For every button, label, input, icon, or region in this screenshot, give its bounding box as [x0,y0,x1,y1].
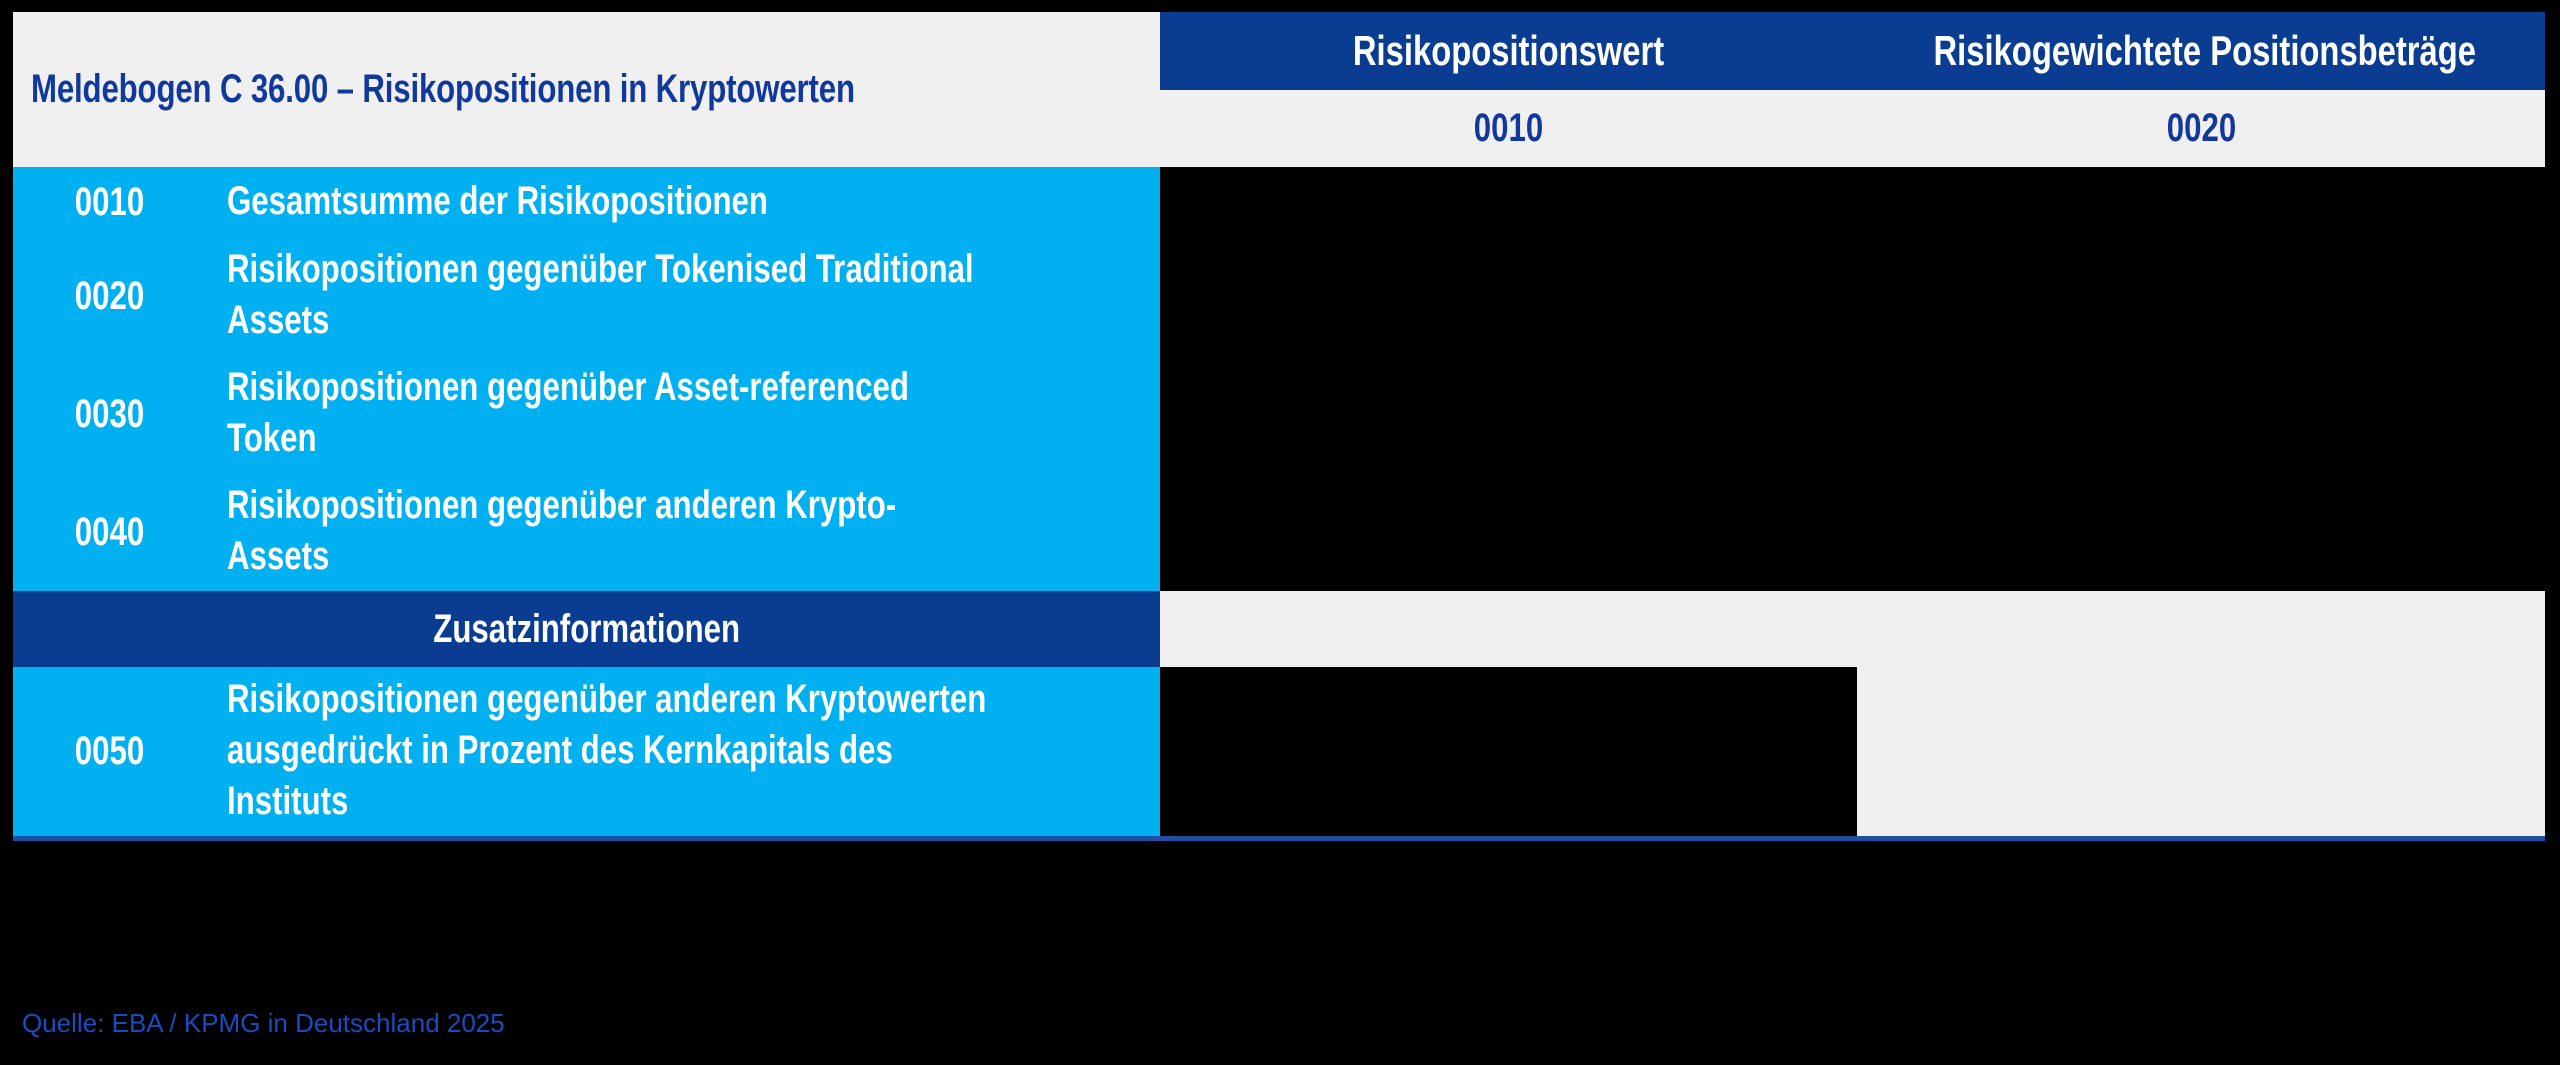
row-label-0050: Risikopositionen gegenüber anderen Krypt… [205,667,1160,841]
column-code-label: 0010 [1474,106,1543,151]
table-title: Meldebogen C 36.00 – Risikopositionen in… [31,67,855,112]
row-code-label: 0020 [74,274,143,319]
column-code-0020: 0020 [1857,90,2545,167]
data-cell-0050-0010[interactable] [1160,667,1857,841]
row-code-0050: 0050 [13,667,205,841]
row-code-label: 0030 [74,392,143,437]
row-label-line: Instituts [227,779,348,824]
row-label-0010: Gesamtsumme der Risikopositionen [205,167,1160,237]
data-cell-0020-0020[interactable] [1857,237,2545,355]
row-label-line: Assets [227,534,329,579]
data-cell-0030-0020[interactable] [1857,355,2545,473]
row-code-label: 0010 [74,180,143,225]
table-row: 0040 Risikopositionen gegenüber anderen … [13,473,2545,591]
data-cell-banner-0020[interactable] [1857,591,2545,667]
table-row: 0010 Gesamtsumme der Risikopositionen [13,167,2545,237]
row-label-0030: Risikopositionen gegenüber Asset-referen… [205,355,1160,473]
column-header-label: Risikopositionswert [1353,27,1664,75]
data-cell-0050-0020[interactable] [1857,667,2545,841]
row-label-line: Gesamtsumme der Risikopositionen [227,179,768,224]
row-label-0040: Risikopositionen gegenüber anderen Krypt… [205,473,1160,591]
table-section-banner-row: Zusatzinformationen [13,591,2545,667]
data-cell-0030-0010[interactable] [1160,355,1857,473]
column-code-label: 0020 [2166,106,2235,151]
row-code-label: 0040 [74,510,143,555]
row-label-line: ausgedrückt in Prozent des Kernkapitals … [227,728,893,773]
section-banner-zusatzinformationen: Zusatzinformationen [13,591,1160,667]
report-table-container: Meldebogen C 36.00 – Risikopositionen in… [13,12,2545,841]
row-label-line: Token [227,416,317,461]
row-code-label: 0050 [74,729,143,774]
row-label-line: Risikopositionen gegenüber Tokenised Tra… [227,247,974,292]
data-cell-0020-0010[interactable] [1160,237,1857,355]
column-header-risikopositionswert: Risikopositionswert [1160,12,1857,90]
row-code-0030: 0030 [13,355,205,473]
row-label-line: Risikopositionen gegenüber anderen Krypt… [227,677,986,722]
table-title-cell: Meldebogen C 36.00 – Risikopositionen in… [13,12,1160,167]
row-code-0010: 0010 [13,167,205,237]
source-caption: Quelle: EBA / KPMG in Deutschland 2025 [22,1008,505,1039]
data-cell-0040-0020[interactable] [1857,473,2545,591]
section-banner-label: Zusatzinformationen [433,607,740,652]
row-label-line: Risikopositionen gegenüber Asset-referen… [227,365,909,410]
data-cell-0010-0020[interactable] [1857,167,2545,237]
table-header-row-titles: Meldebogen C 36.00 – Risikopositionen in… [13,12,2545,90]
table-row: 0020 Risikopositionen gegenüber Tokenise… [13,237,2545,355]
report-table: Meldebogen C 36.00 – Risikopositionen in… [13,12,2545,841]
column-header-risikogewichtete-positionsbetraege: Risikogewichtete Positionsbeträge [1857,12,2545,90]
table-row: 0030 Risikopositionen gegenüber Asset-re… [13,355,2545,473]
column-code-0010: 0010 [1160,90,1857,167]
row-label-0020: Risikopositionen gegenüber Tokenised Tra… [205,237,1160,355]
data-cell-0040-0010[interactable] [1160,473,1857,591]
data-cell-0010-0010[interactable] [1160,167,1857,237]
row-label-line: Risikopositionen gegenüber anderen Krypt… [227,483,896,528]
report-page: Meldebogen C 36.00 – Risikopositionen in… [0,0,2560,1065]
data-cell-banner-0010[interactable] [1160,591,1857,667]
row-code-0040: 0040 [13,473,205,591]
table-row: 0050 Risikopositionen gegenüber anderen … [13,667,2545,841]
column-header-label: Risikogewichtete Positionsbeträge [1934,27,2477,75]
row-label-line: Assets [227,298,329,343]
row-code-0020: 0020 [13,237,205,355]
